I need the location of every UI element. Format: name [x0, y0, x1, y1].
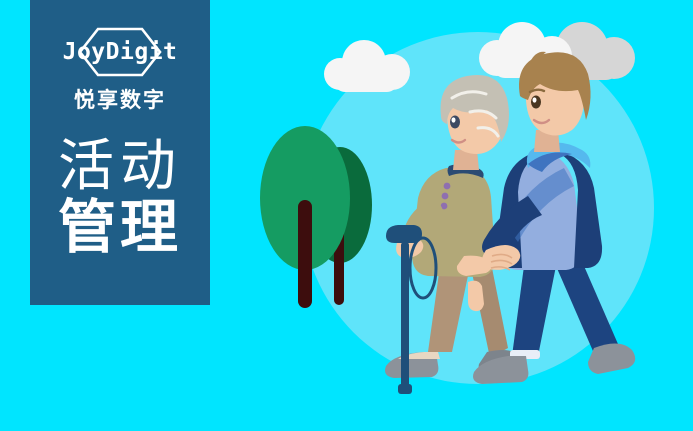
cloud-white-left [324, 40, 410, 92]
poster-canvas: JoyDigit 悦享数字 活动 管理 [0, 0, 693, 431]
page-title-line-1: 活动 [30, 136, 210, 195]
title-panel: JoyDigit 悦享数字 活动 管理 [30, 0, 210, 305]
logo-chinese-name: 悦享数字 [74, 84, 166, 114]
page-title: 活动 管理 [30, 136, 210, 259]
logo-mark: JoyDigit [50, 26, 190, 78]
logo-wordmark: JoyDigit [50, 26, 190, 78]
brand-logo: JoyDigit 悦享数字 [50, 26, 190, 114]
page-title-line-2: 管理 [30, 197, 210, 258]
